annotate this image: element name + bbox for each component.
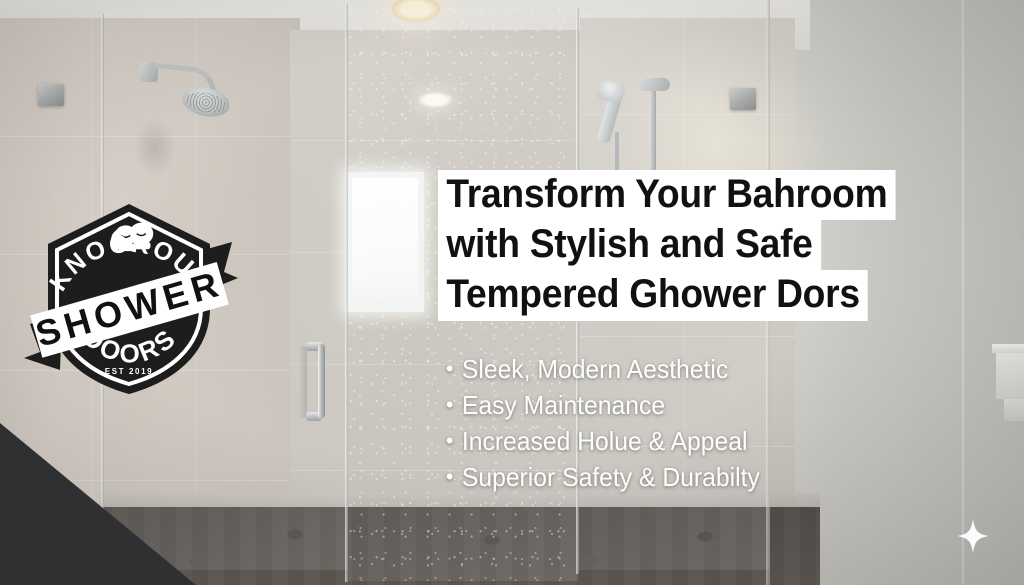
list-item: • Increased Holue & Appeal bbox=[446, 424, 760, 460]
list-item-label: Superior Safety & Durabilty bbox=[462, 460, 760, 496]
list-item: • Sleek, Modern Aesthetic bbox=[446, 352, 760, 388]
bullet-dot-icon: • bbox=[446, 394, 453, 416]
headline-line-1: Transform Your Bahroom bbox=[438, 170, 896, 220]
list-item: • Easy Maintenance bbox=[446, 388, 760, 424]
bullet-dot-icon: • bbox=[446, 466, 453, 488]
bullet-dot-icon: • bbox=[446, 358, 453, 380]
headline-line-2: with Stylish and Safe bbox=[438, 220, 821, 270]
headline: Transform Your Bahroom with Stylish and … bbox=[438, 170, 930, 321]
list-item-label: Sleek, Modern Aesthetic bbox=[462, 352, 728, 388]
list-item-label: Easy Maintenance bbox=[462, 388, 665, 424]
list-item: • Superior Safety & Durabilty bbox=[446, 460, 760, 496]
headline-line-3: Tempered Ghower Dors bbox=[438, 270, 868, 320]
brand-logo: KNOCKOUT DOORS EST 2019 SHOWER bbox=[18, 196, 240, 401]
bullet-dot-icon: • bbox=[446, 430, 453, 452]
list-item-label: Increased Holue & Appeal bbox=[462, 424, 748, 460]
ad-banner: Transform Your Bahroom with Stylish and … bbox=[0, 0, 1024, 585]
logo-established-text: EST 2019 bbox=[105, 367, 153, 376]
sparkle-icon bbox=[956, 518, 990, 554]
benefit-list: • Sleek, Modern Aesthetic • Easy Mainten… bbox=[446, 352, 776, 496]
